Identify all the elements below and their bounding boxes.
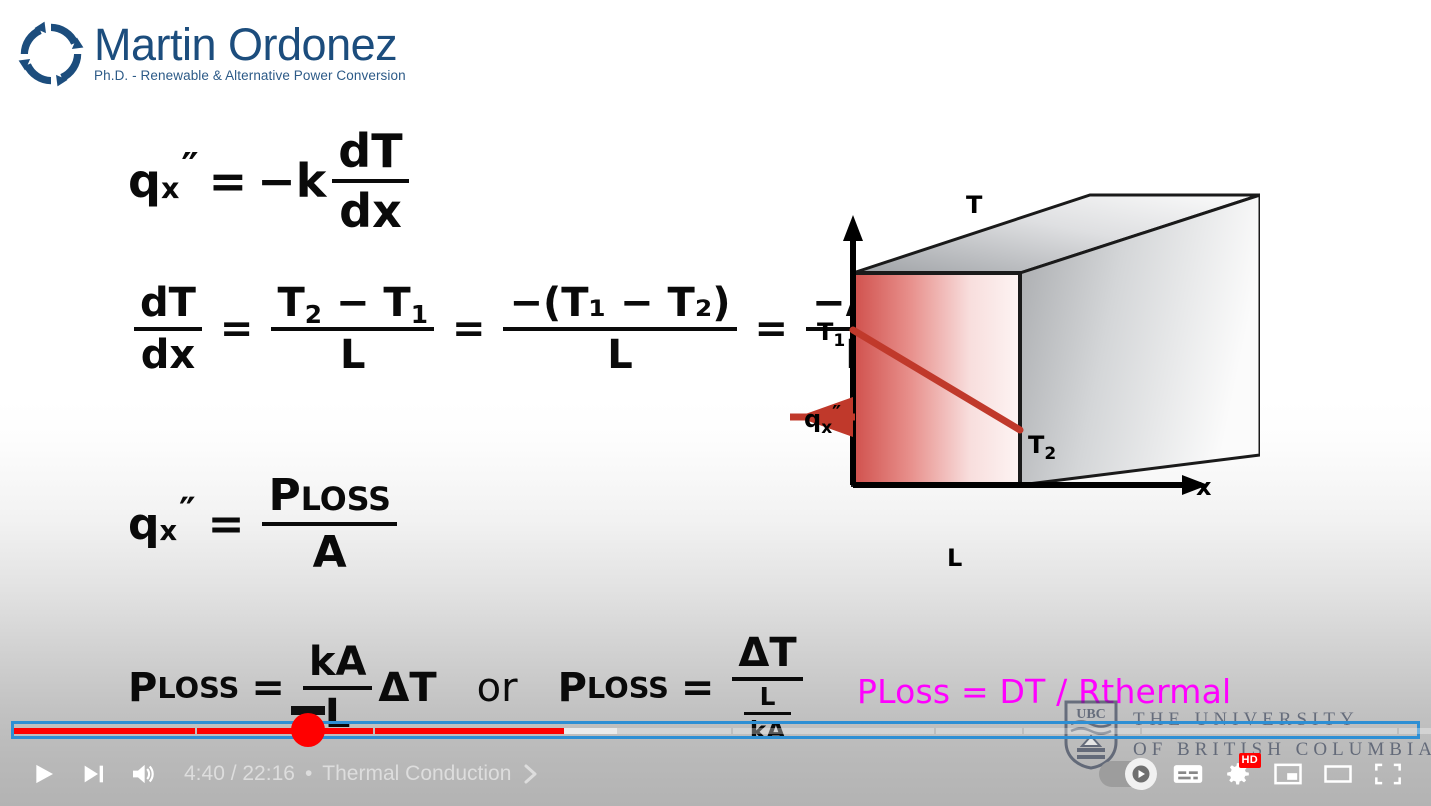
ubc-crest-icon: UBC [1063, 700, 1119, 770]
axis-y-label: T [966, 191, 983, 219]
eq3-p-symbol: P [268, 470, 300, 521]
eq1-equals: = [199, 154, 258, 208]
eq3-equals: = [196, 499, 257, 550]
video-player-stage: Martin Ordonez Ph.D. - Renewable & Alter… [0, 0, 1431, 806]
eq2-fraction-1: dT dx [134, 280, 202, 378]
eq1-denominator: dx [333, 183, 408, 238]
eq2-f2-t2-sub: 2 [305, 300, 322, 329]
presenter-name: Martin Ordonez [94, 20, 406, 70]
eq4-right-sub: LOSS [587, 671, 669, 705]
eq2-f2-numerator: T2 − T1 [271, 280, 434, 327]
flux-label: qx″ [804, 401, 841, 438]
eq2-f3-denominator: L [601, 331, 639, 378]
axis-x-label: x [1196, 473, 1212, 501]
eq1-double-prime: ″ [179, 145, 198, 190]
length-label: L [947, 544, 962, 572]
eq4-right-inner-den: kA [744, 715, 792, 745]
eq2-equals-a: = [208, 306, 266, 352]
eq1-minus-k: −k [257, 154, 326, 208]
eq2-fraction-3: −(T₁ − T₂) L [503, 280, 736, 378]
eq4-right-inner-num: L [754, 682, 782, 712]
ubc-line-2: OF BRITISH COLUMBIA [1133, 739, 1431, 760]
eq4-right-p: P [558, 665, 587, 711]
eq4-right-numerator: ΔT [732, 630, 802, 677]
axis-y-arrowhead [843, 215, 863, 241]
eq1-numerator: dT [332, 124, 408, 179]
thermal-conduction-diagram: T x L T1 T2 qx″ [790, 185, 1260, 595]
eq4-left-equals: = [239, 665, 297, 711]
ubc-watermark: UBC THE UNIVERSITY OF BRITISH COLUMBIA [1063, 700, 1431, 770]
eq1-lhs-sub: x [161, 172, 179, 205]
eq2-f1-denominator: dx [135, 331, 201, 378]
eq3-loss-subscript: LOSS [301, 482, 391, 518]
ubc-wordmark: THE UNIVERSITY OF BRITISH COLUMBIA [1133, 705, 1431, 765]
presenter-logo: Martin Ordonez Ph.D. - Renewable & Alter… [14, 18, 406, 90]
eq3-double-prime: ″ [177, 490, 196, 533]
eq2-f2-denominator: L [334, 331, 372, 378]
circular-arrows-icon [14, 18, 88, 90]
eq4-left-tail: ΔT [378, 665, 436, 711]
ubc-line-1: THE UNIVERSITY [1133, 709, 1359, 730]
eq4-right-fraction: ΔT L kA [732, 630, 802, 745]
eq2-fraction-2: T2 − T1 L [271, 280, 434, 378]
eq3-denominator: A [307, 526, 353, 578]
label-t1: T1 [817, 318, 845, 351]
eq2-f3-numerator: −(T₁ − T₂) [503, 280, 736, 327]
equation-fourier-law: qx″ = −k dT dx [128, 124, 415, 238]
eq4-right-equals: = [669, 665, 727, 711]
eq2-f2-t1-sub: 1 [411, 300, 428, 329]
eq1-fraction: dT dx [332, 124, 408, 238]
equation-flux-power-area: qx″ = PLOSS A [128, 470, 403, 578]
eq3-numerator: PLOSS [262, 470, 396, 522]
eq3-lhs: q [128, 499, 160, 550]
eq4-right-denominator: L kA [738, 681, 798, 745]
equation-power-loss: PLOSS = kA L ΔT or PLOSS = ΔT L kA [128, 630, 809, 745]
eq3-lhs-sub: x [160, 516, 178, 547]
presenter-tagline: Ph.D. - Renewable & Alternative Power Co… [94, 68, 406, 84]
eq1-lhs: q [128, 154, 161, 208]
eq2-equals-b: = [440, 306, 498, 352]
eq4-left-denominator: L [319, 690, 357, 737]
eq2-f2-minus: − [336, 280, 370, 326]
svg-text:UBC: UBC [1076, 707, 1106, 722]
eq4-left-numerator: kA [303, 639, 373, 686]
eq2-f2-t1: T [383, 280, 410, 326]
eq4-left-p: P [128, 665, 157, 711]
eq4-left-fraction: kA L [303, 639, 373, 737]
eq4-left-sub: LOSS [157, 671, 239, 705]
eq2-f1-numerator: dT [134, 280, 202, 327]
eq2-f2-t2: T [277, 280, 304, 326]
eq4-connector: or [437, 665, 558, 711]
eq3-fraction: PLOSS A [262, 470, 396, 578]
eq4-right-inner-fraction: L kA [744, 682, 792, 745]
